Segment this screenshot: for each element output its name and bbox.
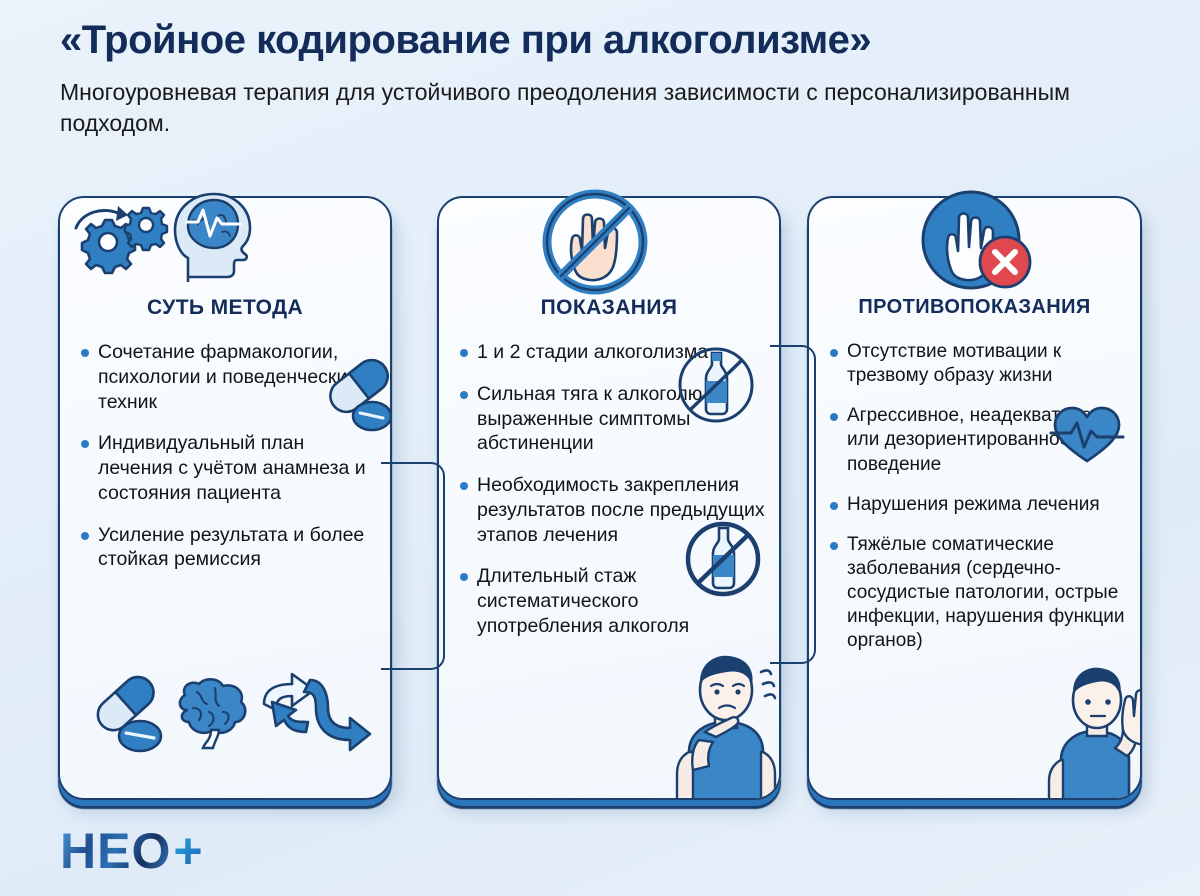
connector-card2-card3 [770, 345, 816, 664]
list-item: Агрессивное, неадекватное или дезориенти… [827, 404, 1126, 476]
list-item: Индивидуальный план лечения с учётом ана… [78, 431, 376, 505]
shuffle-arrows-icon [264, 674, 370, 750]
logo: НЕО + [60, 826, 203, 876]
header: «Тройное кодирование при алкоголизме» Мн… [0, 0, 1200, 139]
card-2-bullet-list: 1 и 2 стадии алкоголизма Сильная тяга к … [457, 340, 765, 656]
logo-text: НЕО [60, 826, 171, 876]
card-1-bullet-list: Сочетание фармакологии, психологии и пов… [78, 340, 376, 589]
list-item: Нарушения режима лечения [827, 493, 1126, 517]
logo-plus-icon: + [173, 826, 202, 876]
card-1-heading: СУТЬ МЕТОДА [60, 296, 390, 320]
list-item: Длительный стаж систематического употреб… [457, 564, 765, 638]
list-item: Усиление результата и более стойкая реми… [78, 523, 376, 573]
list-item: Тяжёлые соматические заболевания (сердеч… [827, 533, 1126, 654]
card-indications[interactable]: ПОКАЗАНИЯ 1 и 2 стадии алкоголизма Сильн… [437, 196, 781, 800]
list-item: 1 и 2 стадии алкоголизма [457, 340, 765, 365]
card-2-heading: ПОКАЗАНИЯ [439, 296, 779, 320]
card-3-heading: ПРОТИВОПОКАЗАНИЯ [809, 296, 1140, 319]
page-title: «Тройное кодирование при алкоголизме» [60, 18, 1140, 63]
page-subtitle: Многоуровневая терапия для устойчивого п… [60, 77, 1140, 139]
card-contraindications[interactable]: ПРОТИВОПОКАЗАНИЯ Отсутствие мотивации к … [807, 196, 1142, 800]
card-3-bullet-list: Отсутствие мотивации к трезвому образу ж… [827, 340, 1126, 669]
connector-card1-card2 [381, 462, 445, 670]
list-item: Отсутствие мотивации к трезвому образу ж… [827, 340, 1126, 388]
cards-row: СУТЬ МЕТОДА Сочетание фармакологии, псих… [0, 196, 1200, 811]
pills-icon [92, 671, 161, 751]
list-item: Сочетание фармакологии, психологии и пов… [78, 340, 376, 414]
brain-icon [180, 679, 245, 748]
list-item: Необходимость закрепления результатов по… [457, 473, 765, 547]
list-item: Сильная тяга к алкоголю и выраженные сим… [457, 382, 765, 456]
card-1-bottom-icons [80, 668, 375, 768]
worried-man-icon [663, 648, 781, 800]
man-raised-hand-icon [1041, 660, 1142, 800]
card-metod-essence[interactable]: СУТЬ МЕТОДА Сочетание фармакологии, псих… [58, 196, 392, 800]
